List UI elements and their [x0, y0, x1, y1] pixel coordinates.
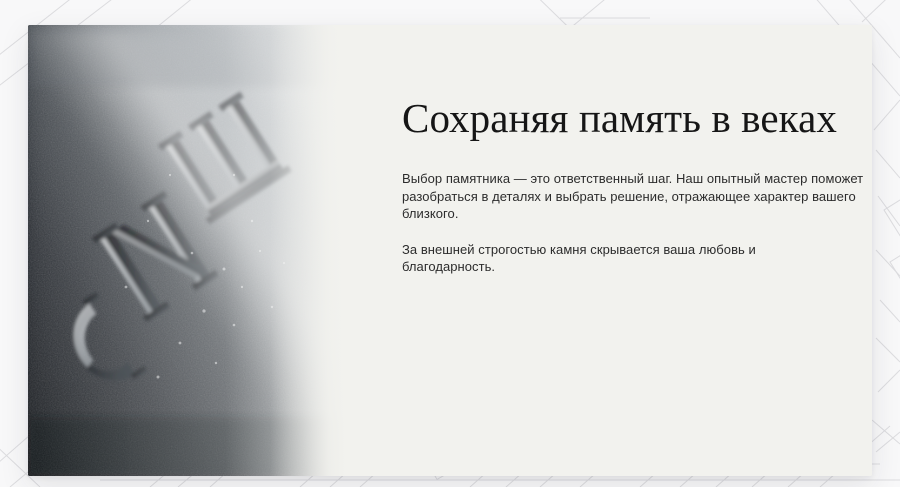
- monument-photo: [28, 25, 346, 476]
- hero-paragraph-2: За внешней строгостью камня скрывается в…: [402, 241, 822, 276]
- hero-headline: Сохраняя память в веках: [402, 95, 872, 141]
- hero-paragraph-1: Выбор памятника — это ответственный шаг.…: [402, 170, 864, 223]
- hero-content: Сохраняя память в веках Выбор памятника …: [402, 95, 872, 276]
- page-root: Сохраняя память в веках Выбор памятника …: [0, 0, 900, 487]
- hero-card: Сохраняя память в веках Выбор памятника …: [28, 25, 872, 476]
- hero-text-panel: Сохраняя память в веках Выбор памятника …: [346, 25, 872, 476]
